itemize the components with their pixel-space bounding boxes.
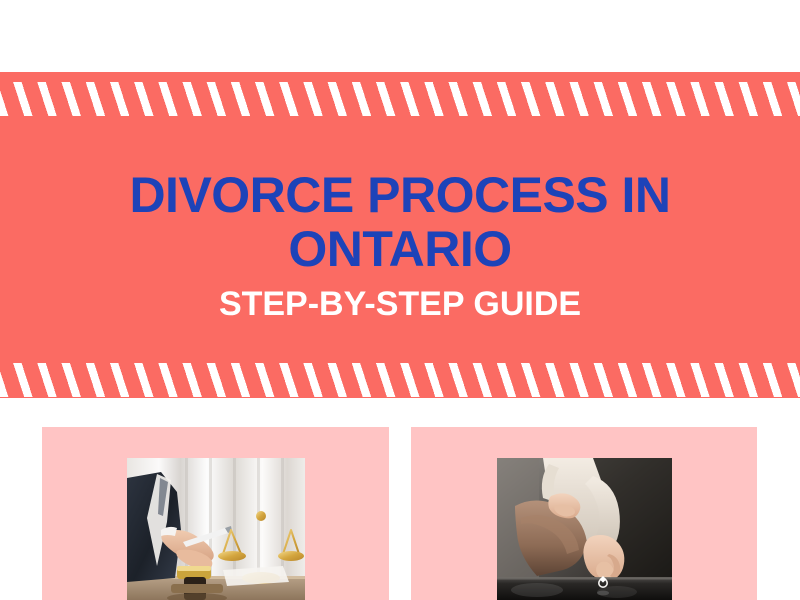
- diagonal-stripes-top: [0, 82, 800, 116]
- woman-removing-ring-photo: [497, 458, 672, 600]
- title-block: DIVORCE PROCESS IN ONTARIO STEP-BY-STEP …: [0, 168, 800, 324]
- card-lawyer: [42, 427, 389, 600]
- card-ring: [411, 427, 757, 600]
- infographic-poster: DIVORCE PROCESS IN ONTARIO STEP-BY-STEP …: [0, 0, 800, 600]
- page-subtitle: STEP-BY-STEP GUIDE: [0, 284, 800, 324]
- lawyer-gavel-scales-photo: [127, 458, 305, 600]
- diagonal-stripes-bottom: [0, 363, 800, 397]
- page-title: DIVORCE PROCESS IN ONTARIO: [0, 168, 800, 276]
